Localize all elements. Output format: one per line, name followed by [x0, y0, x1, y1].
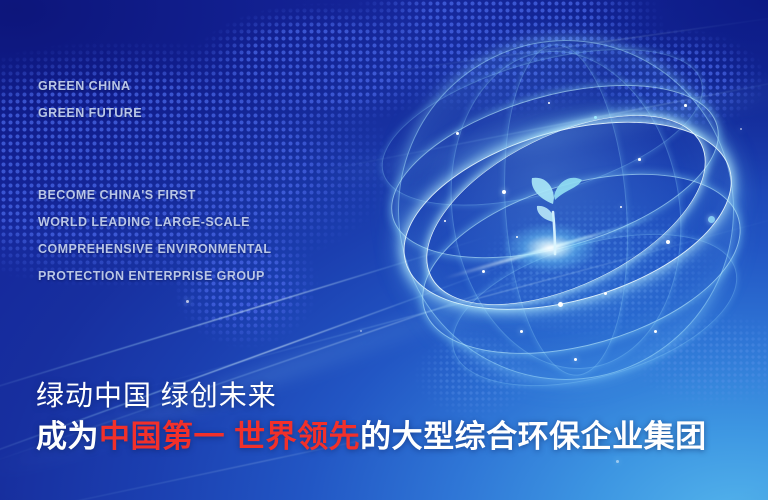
particle: [638, 158, 641, 161]
hero-banner: GREEN CHINA GREEN FUTURE BECOME CHINA'S …: [0, 0, 768, 500]
statement-line-1: BECOME CHINA'S FIRST: [38, 182, 271, 209]
headline-suffix: 的大型综合环保企业集团: [360, 419, 707, 454]
tagline-line-2: GREEN FUTURE: [38, 100, 142, 127]
particle: [558, 302, 563, 307]
headline-highlight: 中国第一 世界领先: [99, 419, 360, 454]
particle: [360, 330, 362, 332]
english-tagline-block: GREEN CHINA GREEN FUTURE: [38, 73, 142, 127]
particle: [684, 104, 687, 107]
particle: [654, 330, 657, 333]
chinese-headline-line-1: 绿动中国 绿创未来: [36, 376, 707, 416]
wireframe-globe: [398, 40, 734, 380]
particle: [482, 270, 485, 273]
sprout-icon: [524, 170, 586, 256]
particle: [666, 240, 670, 244]
particle: [616, 460, 619, 463]
statement-line-3: COMPREHENSIVE ENVIRONMENTAL: [38, 236, 271, 263]
particle: [708, 216, 715, 223]
particle: [548, 102, 550, 104]
chinese-headline-line-2: 成为中国第一 世界领先的大型综合环保企业集团: [36, 416, 707, 458]
chinese-headline-block: 绿动中国 绿创未来 成为中国第一 世界领先的大型综合环保企业集团: [36, 376, 707, 458]
particle: [594, 116, 597, 119]
particle: [444, 220, 446, 222]
statement-line-4: PROTECTION ENTERPRISE GROUP: [38, 263, 271, 290]
particle: [502, 190, 506, 194]
tagline-line-1: GREEN CHINA: [38, 73, 142, 100]
particle: [520, 330, 523, 333]
particle: [604, 292, 607, 295]
particle: [740, 128, 742, 130]
particle: [574, 358, 577, 361]
particle: [516, 236, 518, 238]
particle: [456, 132, 459, 135]
particle: [620, 206, 622, 208]
particle: [186, 300, 189, 303]
statement-line-2: WORLD LEADING LARGE-SCALE: [38, 209, 271, 236]
english-statement-block: BECOME CHINA'S FIRST WORLD LEADING LARGE…: [38, 182, 271, 290]
headline-prefix: 成为: [36, 419, 99, 454]
